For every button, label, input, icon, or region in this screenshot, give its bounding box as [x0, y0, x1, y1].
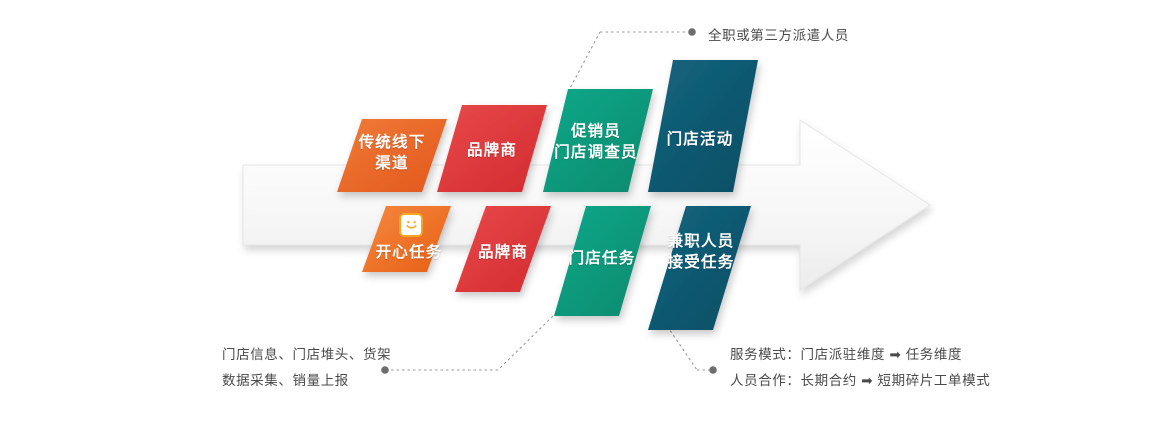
- diagram-canvas: 传统线下 渠道 品牌商 促销员 门店调查员 门店活动 开心任务 品牌商 门店任务…: [0, 0, 1150, 430]
- connector-store-data: [381, 316, 553, 374]
- annotation-store-data: 门店信息、门店堆头、货架 数据采集、销量上报: [222, 342, 391, 395]
- annotation-service-model: 服务模式：门店派驻维度 ➡ 任务维度 人员合作：长期合约 ➡ 短期碎片工单模式: [730, 342, 990, 395]
- smiley-icon: [399, 213, 423, 237]
- annotation-staffing: 全职或第三方派遣人员: [708, 23, 849, 49]
